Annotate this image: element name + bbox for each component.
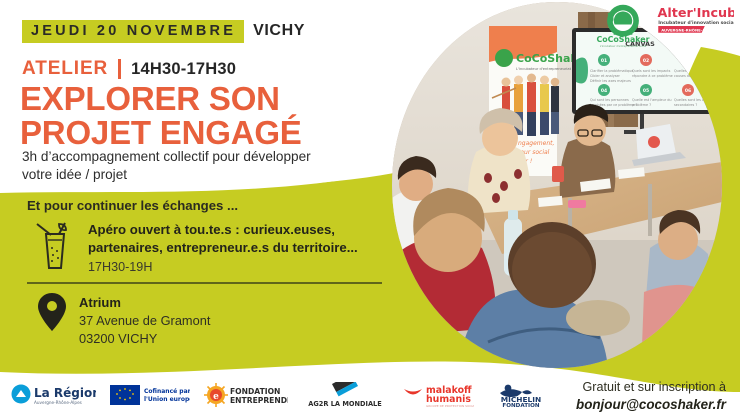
- svg-text:L'incubateur d'entrepreneuriat: L'incubateur d'entrepreneuriat social: [600, 44, 647, 48]
- partner-logo-union-europeenne: Cofinancé par l'Union européenne: [110, 382, 190, 408]
- svg-text:06: 06: [685, 88, 691, 94]
- svg-text:ENTREPRENDRE: ENTREPRENDRE: [230, 396, 288, 405]
- svg-text:répondre à ce problème: répondre à ce problème: [632, 74, 673, 78]
- subtitle-line-2: votre idée / projet: [22, 166, 311, 184]
- partner-logo-strip: La Région Auvergne-Rhône-Alpes Cofinancé…: [10, 381, 554, 409]
- category-label: ATELIER: [22, 58, 108, 80]
- svg-text:problème ?: problème ?: [632, 103, 651, 107]
- venue-block: Atrium 37 Avenue de Gramont 03200 VICHY: [79, 294, 210, 348]
- alterincub-logo: Alter'Incub Incubateur d'innovation soci…: [656, 2, 734, 37]
- svg-text:03: 03: [685, 58, 691, 64]
- signup-email[interactable]: bonjour@cocoshaker.fr: [576, 396, 726, 414]
- cocoshaker-logo: CoCoShaker L'incubateur d'entrepreneuria…: [594, 2, 652, 49]
- subtitle-line-1: 3h d’accompagnement collectif pour dével…: [22, 148, 311, 166]
- svg-text:Quelles sont les causes: Quelles sont les causes: [674, 98, 714, 102]
- svg-text:GROUPE DE PROTECTION SOCIALE: GROUPE DE PROTECTION SOCIALE: [426, 404, 474, 408]
- svg-text:secondaires ?: secondaires ?: [674, 103, 697, 107]
- after-event-intro: Et pour continuer les échanges ...: [27, 198, 238, 213]
- svg-text:ngagement,: ngagement,: [518, 140, 554, 147]
- svg-text:02: 02: [643, 58, 649, 64]
- svg-text:FONDATION: FONDATION: [502, 403, 539, 409]
- svg-text:e: e: [213, 392, 219, 402]
- subtitle: 3h d’accompagnement collectif pour dével…: [22, 148, 311, 185]
- page-title: EXPLORER SON PROJET ENGAGÉ: [20, 82, 302, 151]
- partner-logo-michelin-fondation: MICHELIN FONDATION: [488, 382, 554, 408]
- venue-name: Atrium: [79, 294, 210, 312]
- partner-logo-ag2r-la-mondiale: AG2R LA MONDIALE: [302, 382, 388, 408]
- svg-text:Cibler et analyser: Cibler et analyser: [590, 74, 621, 78]
- city-label: VICHY: [253, 22, 305, 40]
- workshop-photo-illustration: CoCoShaker L'incubateur d'entrepreneuria…: [392, 2, 722, 368]
- date-row: JEUDI 20 NOVEMBRE VICHY: [22, 20, 305, 43]
- svg-text:La Région: La Région: [34, 386, 96, 400]
- venue-street: 37 Avenue de Gramont: [79, 312, 210, 330]
- apero-block: Apéro ouvert à tou.te.s : curieux.euses,…: [88, 221, 388, 274]
- alterincub-wordmark: Alter'Incub: [658, 6, 735, 21]
- map-pin-icon: [38, 293, 66, 331]
- svg-text:Incubateur d'innovation social: Incubateur d'innovation sociale: [658, 20, 734, 26]
- date-badge: JEUDI 20 NOVEMBRE: [22, 20, 244, 43]
- svg-text:AG2R LA MONDIALE: AG2R LA MONDIALE: [308, 400, 382, 408]
- workshop-photo: CoCoShaker L'incubateur d'entrepreneuria…: [392, 2, 722, 368]
- signup-instruction: Gratuit et sur inscription à: [576, 379, 726, 396]
- cocktail-glass-icon: [33, 220, 77, 272]
- svg-text:Quelles sont les pratiques: Quelles sont les pratiques: [674, 69, 718, 73]
- category-row: ATELIER 14H30-17H30: [22, 58, 236, 80]
- title-line-1: EXPLORER SON: [20, 82, 302, 116]
- event-poster: CoCoShaker L'incubateur d'entrepreneuria…: [0, 0, 740, 416]
- svg-text:04: 04: [601, 88, 607, 94]
- partner-logo-malakoff-humanis: malakoff humanis GROUPE DE PROTECTION SO…: [402, 382, 474, 408]
- apero-line-1: Apéro ouvert à tou.te.s : curieux.euses,: [88, 221, 388, 239]
- svg-text:05: 05: [643, 88, 649, 94]
- svg-text:l'Union européenne: l'Union européenne: [144, 396, 190, 403]
- svg-text:Qui sont les personnes: Qui sont les personnes: [590, 98, 629, 102]
- section-divider: [27, 282, 382, 284]
- svg-text:Quelle est l'ampleur du: Quelle est l'ampleur du: [632, 98, 672, 102]
- partner-logo-fondation-entreprendre: e FONDATION ENTREPRENDRE: [204, 382, 288, 408]
- partner-logo-la-region: La Région Auvergne-Rhône-Alpes: [10, 382, 96, 408]
- svg-text:Quels sont les impacts: Quels sont les impacts: [632, 69, 671, 73]
- apero-line-2: partenaires, entrepreneur.e.s du territo…: [88, 239, 388, 257]
- svg-text:AUVERGNE-RHÔNE-ALPES: AUVERGNE-RHÔNE-ALPES: [661, 27, 716, 32]
- apero-time: 17H30-19H: [88, 260, 388, 274]
- signup-block: Gratuit et sur inscription à bonjour@coc…: [576, 379, 726, 414]
- brand-logos: CoCoShaker L'incubateur d'entrepreneuria…: [594, 2, 734, 49]
- svg-text:Définir les axes majeurs: Définir les axes majeurs: [590, 79, 631, 83]
- photo-container: CoCoShaker L'incubateur d'entrepreneuria…: [392, 2, 722, 368]
- svg-text:Clarifier la problématique: Clarifier la problématique: [590, 69, 633, 73]
- hours-label: 14H30-17H30: [131, 60, 236, 79]
- apero-title: Apéro ouvert à tou.te.s : curieux.euses,…: [88, 221, 388, 257]
- venue-postal-city: 03200 VICHY: [79, 330, 210, 348]
- separator-bar: [118, 59, 121, 79]
- svg-text:FONDATION: FONDATION: [230, 387, 280, 396]
- svg-text:causes de ce problème: causes de ce problème: [674, 74, 713, 78]
- svg-text:Auvergne-Rhône-Alpes: Auvergne-Rhône-Alpes: [34, 400, 82, 405]
- cocoshaker-wordmark: CoCoShaker: [596, 35, 649, 44]
- svg-text:Cofinancé par: Cofinancé par: [144, 388, 190, 395]
- svg-text:01: 01: [601, 58, 607, 64]
- title-line-2: PROJET ENGAGÉ: [20, 116, 302, 150]
